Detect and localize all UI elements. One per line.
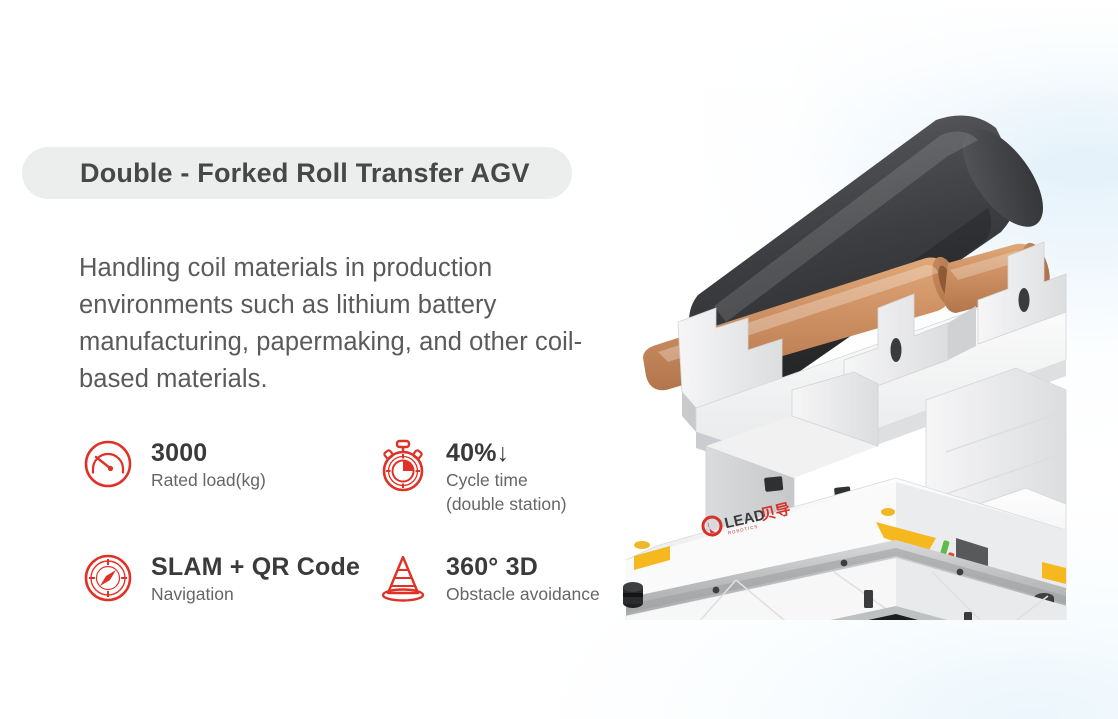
spec-item-cycle-time: 40%↓ Cycle time (double station) [374,436,649,516]
skirt-port-left [864,590,873,608]
spec-label: Navigation [151,582,360,606]
bumper-sensor-3 [957,569,964,576]
spec-item-navigation: SLAM + QR Code Navigation [79,550,374,612]
stopwatch-icon [374,436,432,498]
spec-item-rated-load: 3000 Rated load(kg) [79,436,374,516]
spec-grid: 3000 Rated load(kg) [79,436,649,634]
spec-label-secondary: (double station) [446,492,567,516]
spec-value: 360° 3D [446,552,600,582]
gauge-icon [79,436,137,498]
product-description: Handling coil materials in production en… [79,250,639,398]
spec-value: SLAM + QR Code [151,552,360,582]
tower-slot-rear [1019,288,1030,312]
tower-slot-front [891,338,902,362]
spec-text: SLAM + QR Code Navigation [137,550,360,606]
spec-value: 3000 [151,438,266,468]
spec-label: Obstacle avoidance [446,582,600,606]
content-column: Double - Forked Roll Transfer AGV Handli… [0,0,660,719]
bumper-sensor-1 [713,587,720,594]
page-title: Double - Forked Roll Transfer AGV [80,158,530,189]
product-slide: LEAD 贝导 ROBOTICS [0,0,1118,719]
spec-text: 3000 Rated load(kg) [137,436,266,492]
spec-item-obstacle-avoidance: 360° 3D Obstacle avoidance [374,550,649,612]
corner-lamp-mid [881,508,895,516]
spec-value: 40%↓ [446,438,567,468]
traffic-cone-icon [374,550,432,612]
spec-text: 40%↓ Cycle time (double station) [432,436,567,516]
spec-row: 3000 Rated load(kg) [79,436,649,516]
vent-panel-left [764,476,783,492]
spec-row: SLAM + QR Code Navigation [79,550,649,612]
title-pill: Double - Forked Roll Transfer AGV [22,147,572,199]
bumper-sensor-2 [841,560,848,567]
spec-label: Rated load(kg) [151,468,266,492]
spec-label: Cycle time [446,468,567,492]
compass-icon [79,550,137,612]
spec-text: 360° 3D Obstacle avoidance [432,550,600,606]
product-image: LEAD 贝导 ROBOTICS [596,60,1118,620]
skirt-port-right [964,612,972,620]
